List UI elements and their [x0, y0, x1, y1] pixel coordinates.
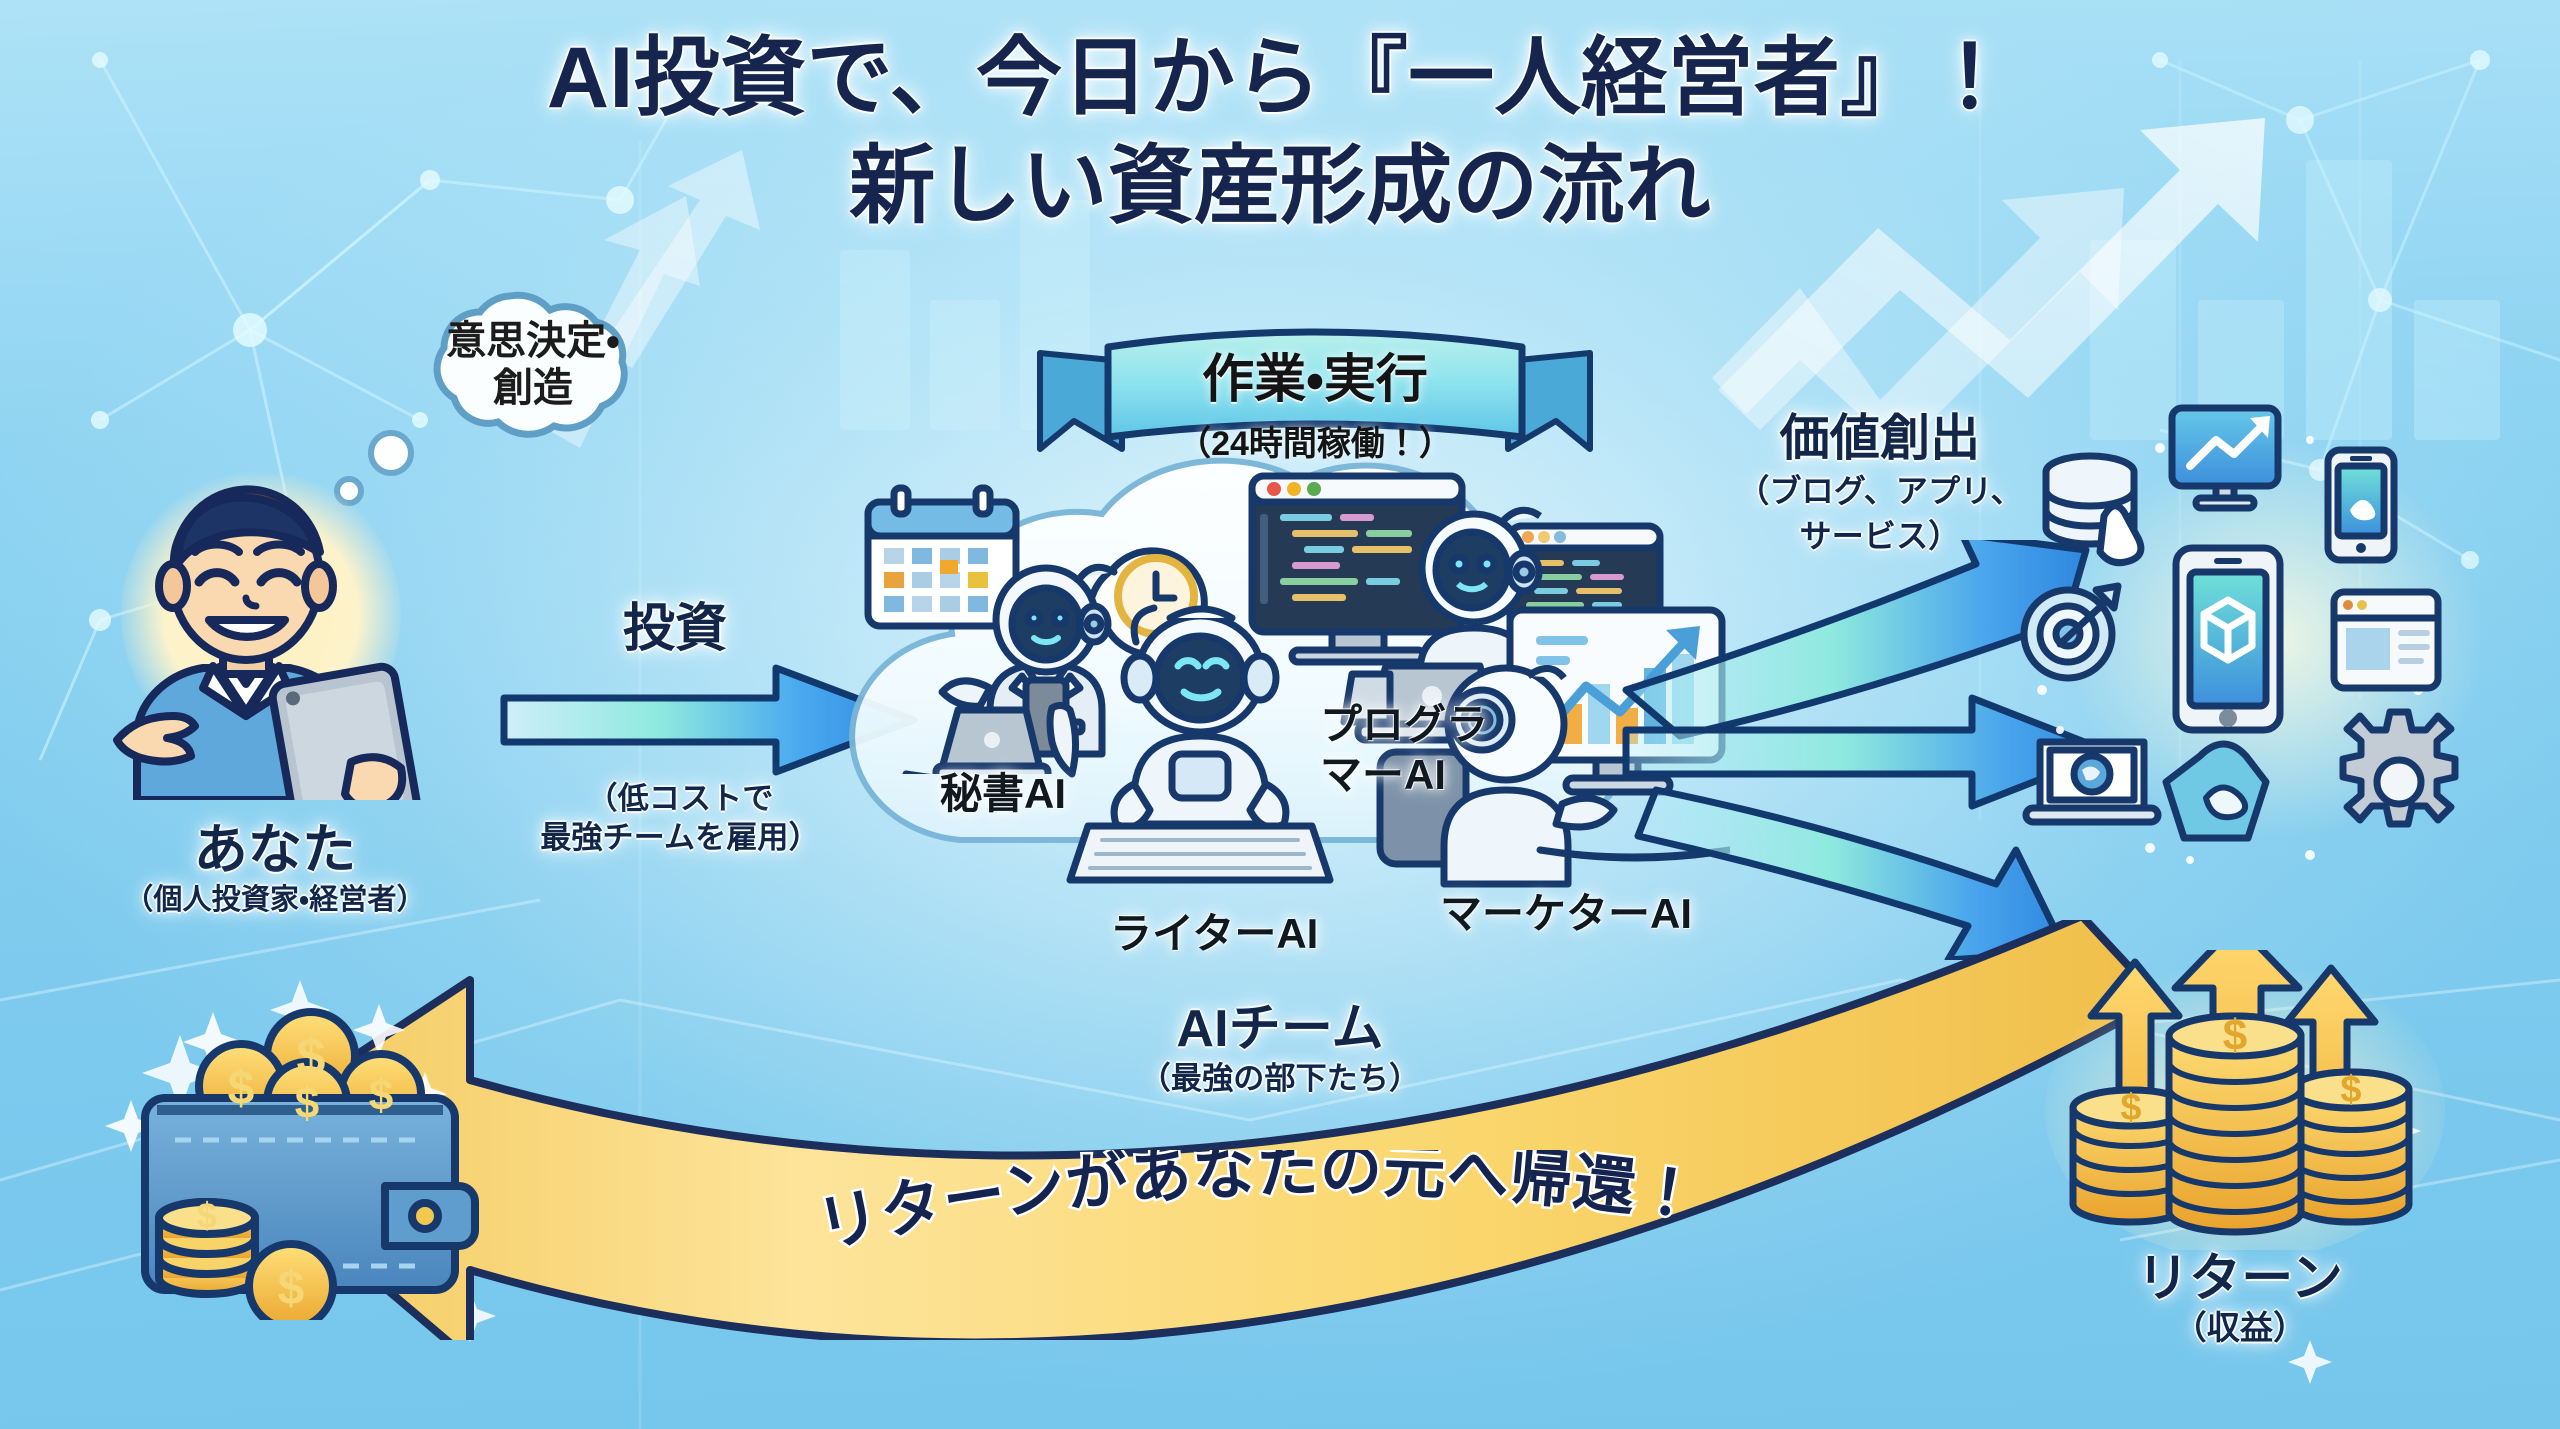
ai-member-label-programmer: プログラ マーAI — [1320, 700, 1488, 799]
value-output-icons — [2020, 400, 2540, 880]
coin-symbol: $ — [2223, 1011, 2247, 1060]
ai-member-label-programmer-line-1: プログラ — [1320, 700, 1488, 750]
coin-symbol: $ — [2340, 1069, 2361, 1111]
thought-bubble: 意思決定・ 創造 — [392, 290, 674, 450]
headline-line-1: AI投資で、今日から『一人経営者』！ — [430, 30, 2130, 126]
coin-symbol: $ — [228, 1062, 255, 1115]
invest-label: 投資 — [510, 600, 840, 658]
return-label: リターン （収益） — [2040, 1250, 2440, 1347]
return-title: リターン — [2040, 1250, 2440, 1308]
ribbon-title: 作業・実行 — [1030, 337, 1600, 412]
return-subtitle: （収益） — [2040, 1310, 2440, 1347]
coin-symbol: $ — [2120, 1087, 2141, 1129]
ai-member-label-secretary: 秘書AI — [940, 760, 1066, 821]
headline-line-2: 新しい資産形成の流れ — [430, 138, 2130, 234]
page-title: AI投資で、今日から『一人経営者』！ 新しい資産形成の流れ — [430, 30, 2130, 235]
infographic-canvas: AI投資で、今日から『一人経営者』！ 新しい資産形成の流れ 意思決定・ 創造 — [0, 0, 2560, 1429]
coin-symbol: $ — [278, 1262, 305, 1315]
target-bullseye-icon — [2024, 586, 2118, 678]
coin-symbol: $ — [295, 1079, 319, 1128]
smartphone-cube-icon — [2176, 548, 2280, 730]
browser-window-icon — [2334, 592, 2438, 688]
laptop-globe-icon — [2026, 742, 2158, 822]
return-coin-stacks: $ $ $ — [2045, 950, 2465, 1250]
coin-symbol: $ — [297, 1028, 326, 1086]
actor-title: あなた — [60, 820, 490, 880]
thought-bubble-text: 意思決定・ 創造 — [392, 318, 674, 412]
invest-label-text: 投資 — [510, 600, 840, 658]
coin-symbol: $ — [197, 1195, 217, 1236]
mobile-phone-icon — [2328, 450, 2394, 560]
return-banner-text: リターンがあなたの元へ帰還！ — [760, 1150, 1760, 1330]
wallet-with-coins-icon: $ $ $ $ $ $ — [95, 960, 515, 1320]
actor-subtitle: （個人投資家・経営者） — [60, 884, 490, 916]
ai-member-label-programmer-line-2: マーAI — [1320, 750, 1488, 800]
gear-icon — [2343, 712, 2455, 824]
right-arrow-icon — [1626, 540, 2086, 736]
return-banner-label: リターンがあなたの元へ帰還！ — [812, 1150, 1705, 1261]
person-with-tablet-icon — [95, 440, 425, 800]
writer-robot-icon — [1030, 588, 1370, 888]
svg-text:リターンがあなたの元へ帰還！: リターンがあなたの元へ帰還！ — [812, 1150, 1705, 1261]
coin-symbol: $ — [369, 1071, 393, 1120]
database-icon — [2046, 456, 2141, 563]
actor-label: あなた （個人投資家・経営者） — [60, 820, 490, 917]
